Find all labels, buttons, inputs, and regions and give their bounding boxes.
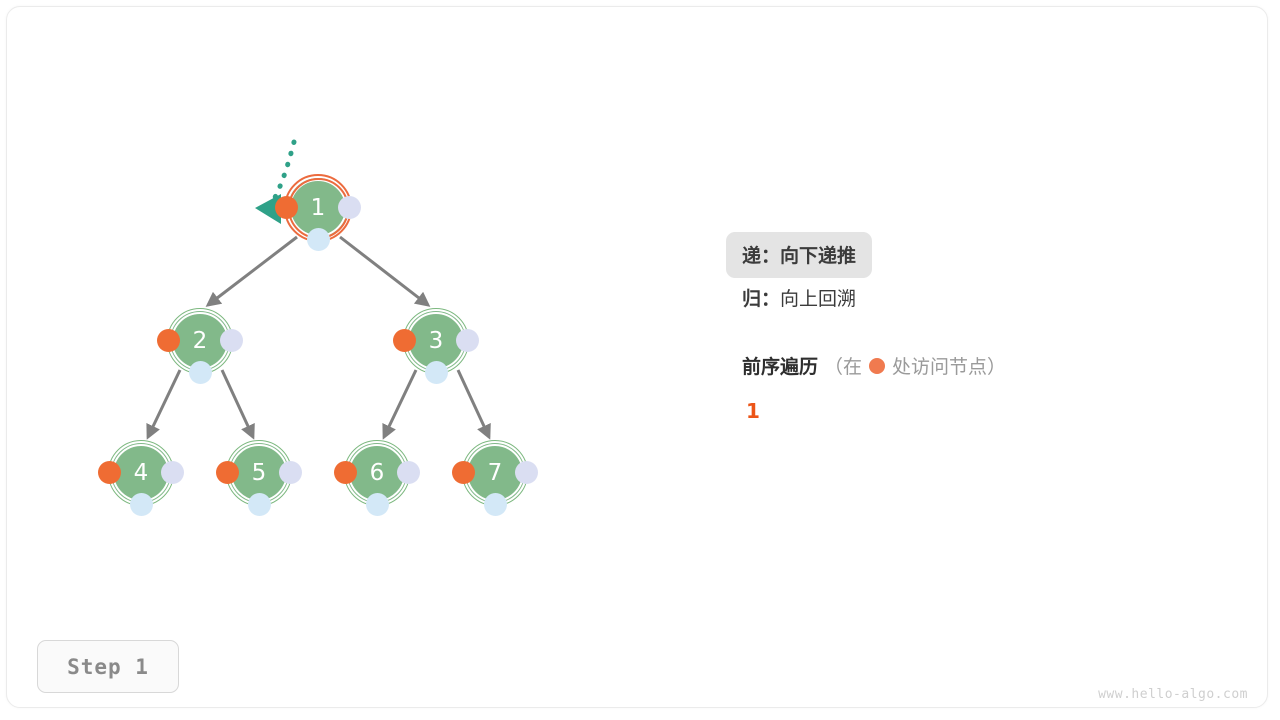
visited-sequence: 1 xyxy=(726,379,1166,423)
node-label: 1 xyxy=(311,197,326,220)
preorder-dot xyxy=(334,461,357,484)
tree-node-2[interactable]: 2 xyxy=(170,311,230,371)
postorder-dot xyxy=(161,461,184,484)
inorder-dot xyxy=(425,361,448,384)
inorder-dot xyxy=(366,493,389,516)
edge-n2-n5 xyxy=(222,370,253,437)
inorder-dot xyxy=(189,361,212,384)
recurse-label: 递：向下递推 xyxy=(726,232,872,278)
tree-node-7[interactable]: 7 xyxy=(465,443,525,503)
inorder-dot xyxy=(307,228,330,251)
legend-panel: 递：向下递推 归：向上回溯 前序遍历 （在 处访问节点） 1 xyxy=(726,232,1166,423)
legend-close-text: 处访问节点） xyxy=(892,352,1006,379)
node-label: 5 xyxy=(252,462,267,485)
postorder-dot xyxy=(456,329,479,352)
tree-node-3[interactable]: 3 xyxy=(406,311,466,371)
traversal-title: 前序遍历 xyxy=(742,352,818,379)
preorder-dot xyxy=(157,329,180,352)
backtrack-value: 向上回溯 xyxy=(780,289,856,310)
node-label: 7 xyxy=(488,462,503,485)
postorder-dot xyxy=(220,329,243,352)
traversal-legend: 前序遍历 （在 处访问节点） xyxy=(726,312,1166,379)
edge-n1-n3 xyxy=(340,237,428,305)
preorder-dot xyxy=(216,461,239,484)
edge-n2-n4 xyxy=(148,370,180,437)
legend-preorder-dot-icon xyxy=(869,358,885,374)
watermark: www.hello-algo.com xyxy=(1098,687,1248,702)
postorder-dot xyxy=(279,461,302,484)
preorder-dot xyxy=(275,196,298,219)
postorder-dot xyxy=(397,461,420,484)
step-badge: Step 1 xyxy=(37,640,179,693)
step-label: Step 1 xyxy=(67,655,149,679)
node-label: 2 xyxy=(193,330,208,353)
tree-node-6[interactable]: 6 xyxy=(347,443,407,503)
node-label: 3 xyxy=(429,330,444,353)
inorder-dot xyxy=(484,493,507,516)
node-label: 6 xyxy=(370,462,385,485)
recurse-row: 递：向下递推 xyxy=(726,232,1166,278)
diagram-canvas: 1 2 3 4 xyxy=(0,0,1280,720)
postorder-dot xyxy=(338,196,361,219)
preorder-dot xyxy=(98,461,121,484)
tree-node-5[interactable]: 5 xyxy=(229,443,289,503)
preorder-dot xyxy=(393,329,416,352)
edge-n3-n7 xyxy=(458,370,489,437)
edge-n3-n6 xyxy=(384,370,416,437)
inorder-dot xyxy=(248,493,271,516)
legend-open-paren: （在 xyxy=(824,352,862,379)
backtrack-row: 归：向上回溯 xyxy=(726,278,1166,312)
inorder-dot xyxy=(130,493,153,516)
preorder-dot xyxy=(452,461,475,484)
tree-node-4[interactable]: 4 xyxy=(111,443,171,503)
tree-node-1[interactable]: 1 xyxy=(288,178,348,238)
postorder-dot xyxy=(515,461,538,484)
node-label: 4 xyxy=(134,462,149,485)
backtrack-key: 归： xyxy=(742,289,780,310)
edge-n1-n2 xyxy=(208,237,297,305)
